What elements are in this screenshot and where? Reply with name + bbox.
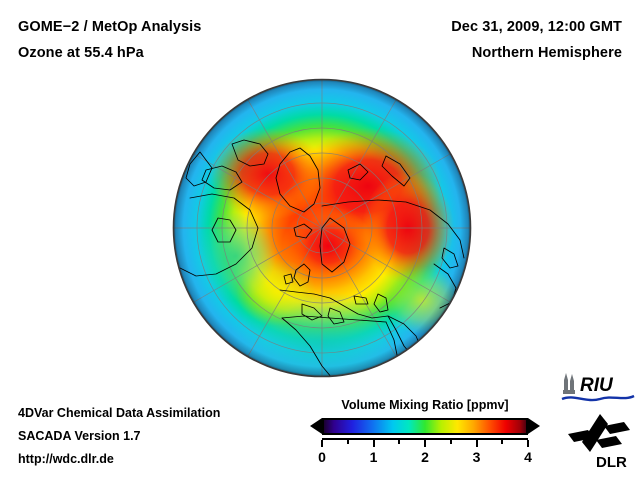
- header-right: Dec 31, 2009, 12:00 GMT Northern Hemisph…: [451, 14, 622, 66]
- riu-logo-svg: RIU: [560, 370, 636, 404]
- colorbar-strip: [310, 418, 540, 435]
- globe-limb-shading: [173, 79, 471, 377]
- riu-wordmark: RIU: [580, 375, 614, 396]
- riu-wave-icon: [562, 396, 634, 400]
- colorbar-major-tick: [373, 440, 375, 447]
- colorbar-over-arrow-icon: [528, 418, 540, 434]
- globe-svg: [172, 78, 472, 378]
- colorbar-under-arrow-icon: [310, 418, 322, 434]
- colorbar-title: Volume Mixing Ratio [ppmv]: [310, 398, 540, 413]
- page-subtitle: Ozone at 55.4 hPa: [18, 40, 201, 66]
- globe-map: [172, 78, 472, 378]
- riu-logo: RIU: [560, 370, 636, 404]
- colorbar-major-tick: [527, 440, 529, 447]
- colorbar-tick-label: 3: [466, 448, 488, 466]
- dlr-logo-svg: DLR: [566, 412, 636, 474]
- colorbar-axis: [322, 438, 528, 446]
- footer-line-url[interactable]: http://wdc.dlr.de: [18, 448, 220, 471]
- colorbar-minor-tick: [501, 440, 503, 444]
- colorbar-minor-tick: [450, 440, 452, 444]
- colorbar-minor-tick: [398, 440, 400, 444]
- cathedral-towers-icon: [563, 373, 575, 394]
- timestamp-label: Dec 31, 2009, 12:00 GMT: [451, 14, 622, 40]
- colorbar: Volume Mixing Ratio [ppmv] 01234: [310, 398, 540, 468]
- region-label: Northern Hemisphere: [451, 40, 622, 66]
- ozone-analysis-figure: GOME−2 / MetOp Analysis Ozone at 55.4 hP…: [0, 0, 640, 480]
- page-title: GOME−2 / MetOp Analysis: [18, 14, 201, 40]
- footer-line-version: SACADA Version 1.7: [18, 425, 220, 448]
- colorbar-major-tick: [476, 440, 478, 447]
- colorbar-tick-label: 2: [414, 448, 436, 466]
- dlr-logo: DLR: [566, 412, 636, 474]
- colorbar-tick-label: 0: [311, 448, 333, 466]
- footer-credits: 4DVar Chemical Data Assimilation SACADA …: [18, 402, 220, 471]
- footer-line-method: 4DVar Chemical Data Assimilation: [18, 402, 220, 425]
- colorbar-tick-labels: 01234: [310, 448, 540, 466]
- colorbar-tick-label: 1: [363, 448, 385, 466]
- header-left: GOME−2 / MetOp Analysis Ozone at 55.4 hP…: [18, 14, 201, 66]
- dlr-arrow-icon: [568, 414, 630, 452]
- colorbar-gradient: [322, 418, 528, 435]
- colorbar-tick-label: 4: [517, 448, 539, 466]
- colorbar-minor-tick: [347, 440, 349, 444]
- dlr-wordmark: DLR: [596, 454, 627, 471]
- colorbar-major-tick: [321, 440, 323, 447]
- colorbar-major-tick: [424, 440, 426, 447]
